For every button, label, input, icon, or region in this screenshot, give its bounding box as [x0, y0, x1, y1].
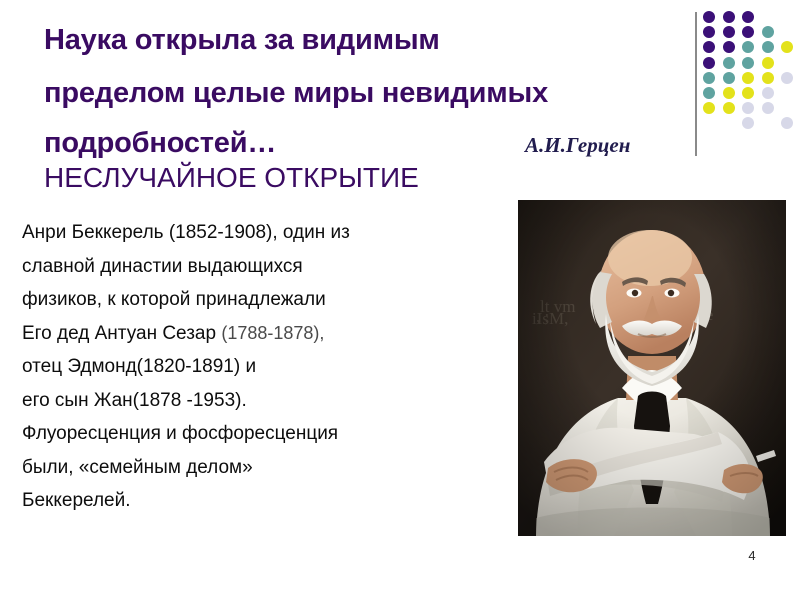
decorative-dot	[742, 41, 754, 53]
decorative-dot	[723, 11, 735, 23]
body-text-run: Беккерелей.	[22, 490, 131, 511]
decorative-dot	[781, 72, 793, 84]
becquerel-portrait-photo: lt vm y , ; iIsM, nouate	[518, 200, 786, 536]
vertical-rule-divider	[695, 12, 697, 156]
decorative-dot	[762, 72, 774, 84]
decorative-dot	[762, 87, 774, 99]
decorative-dot	[742, 72, 754, 84]
decorative-dot	[703, 87, 715, 99]
body-text-line: Флуоресценция и фосфоресценция	[22, 417, 502, 451]
slide-title-line-3: подробностей…	[44, 128, 276, 158]
body-text-line: славной династии выдающихся	[22, 250, 502, 284]
body-text-run: Флуоресценция и фосфоресценция	[22, 423, 338, 444]
decorative-dot	[762, 102, 774, 114]
decorative-dot	[703, 11, 715, 23]
decorative-dot	[723, 102, 735, 114]
body-text-line: физиков, к которой принадлежали	[22, 283, 502, 317]
body-text-run: славной династии выдающихся	[22, 256, 303, 277]
decorative-dot	[742, 102, 754, 114]
decorative-dot	[723, 57, 735, 69]
decorative-dot	[723, 72, 735, 84]
decorative-dot	[762, 26, 774, 38]
slide-header: Наука открыла за видимым пределом целые …	[0, 0, 700, 200]
body-text-run: Его дед Антуан Сезар	[22, 323, 221, 344]
body-text-dates: (1788-1878),	[221, 323, 324, 343]
body-text-line: были, «семейным делом»	[22, 451, 502, 485]
body-text-line: его сын Жан(1878 -1953).	[22, 384, 502, 418]
body-text-line: Беккерелей.	[22, 484, 502, 518]
body-text-line: Его дед Антуан Сезар (1788-1878),	[22, 317, 502, 351]
slide-title-line-2: пределом целые миры невидимых	[44, 78, 548, 108]
decorative-dot	[781, 117, 793, 129]
decorative-dot	[742, 57, 754, 69]
decorative-dot	[723, 87, 735, 99]
body-text-line: отец Эдмонд(1820-1891) и	[22, 350, 502, 384]
decorative-dot	[703, 41, 715, 53]
portrait-illustration: lt vm y , ; iIsM, nouate	[518, 200, 786, 536]
body-text-run: его сын Жан(1878 -1953).	[22, 390, 247, 411]
quote-attribution: А.И.Герцен	[525, 133, 630, 158]
slide-title-line-1: Наука открыла за видимым	[44, 25, 440, 55]
body-text-run: физиков, к которой принадлежали	[22, 289, 326, 310]
body-text-run: были, «семейным делом»	[22, 457, 253, 478]
decorative-dot	[703, 102, 715, 114]
decorative-dot	[742, 87, 754, 99]
decorative-dot	[703, 26, 715, 38]
decorative-dot-grid	[703, 11, 793, 131]
body-text-run: отец Эдмонд(1820-1891) и	[22, 356, 256, 377]
decorative-dot	[762, 41, 774, 53]
slide-number: 4	[742, 548, 762, 563]
decorative-dot	[742, 26, 754, 38]
slide-canvas: Наука открыла за видимым пределом целые …	[0, 0, 800, 600]
decorative-dot	[703, 57, 715, 69]
slide-subtitle: НЕСЛУЧАЙНОЕ ОТКРЫТИЕ	[44, 163, 419, 193]
decorative-dot	[781, 41, 793, 53]
body-paragraph: Анри Беккерель (1852-1908), один изславн…	[22, 216, 502, 518]
decorative-dot	[703, 72, 715, 84]
decorative-dot	[762, 57, 774, 69]
body-text-run: Анри Беккерель (1852-1908), один из	[22, 222, 350, 243]
decorative-dot	[742, 11, 754, 23]
decorative-dot	[723, 41, 735, 53]
decorative-dot	[742, 117, 754, 129]
body-text-line: Анри Беккерель (1852-1908), один из	[22, 216, 502, 250]
decorative-dot	[723, 26, 735, 38]
